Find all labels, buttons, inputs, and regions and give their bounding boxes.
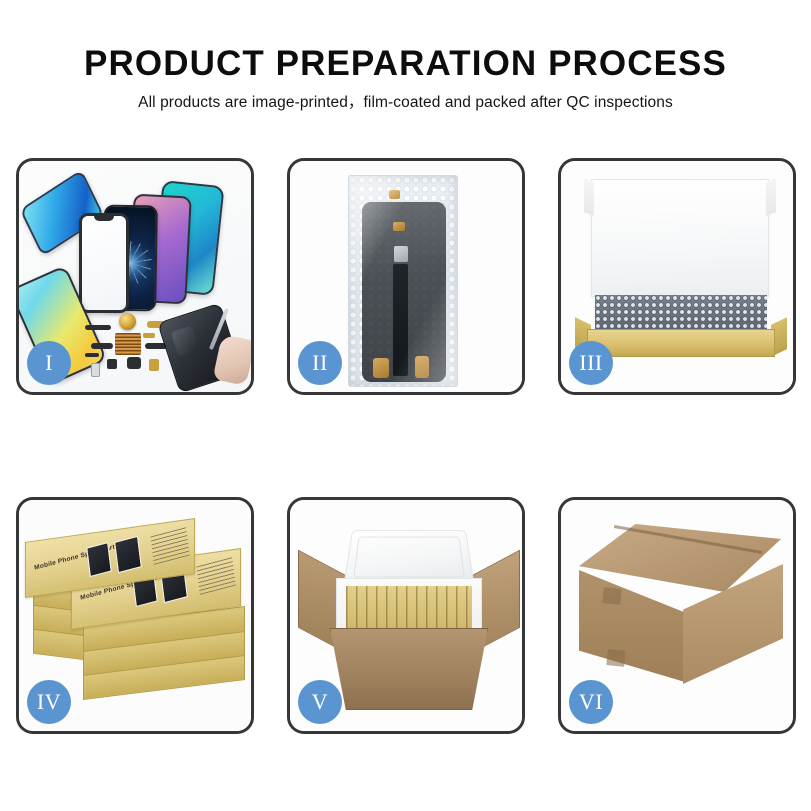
product-preparation-poster: PRODUCT PREPARATION PROCESS All products… (0, 0, 811, 811)
bubble-wrap-fill (595, 295, 767, 329)
bubble-wrap-bag (348, 175, 458, 387)
part-connector-grid (115, 333, 141, 355)
stack-box-top-window-b (114, 536, 142, 573)
process-step-panel-4: Mobile Phone Spare Parts Mobile Phone Sp… (16, 497, 254, 734)
part-chip-square (107, 359, 117, 369)
white-box-lid (591, 179, 769, 297)
step-badge-3: III (569, 341, 613, 385)
stack-box-front-text-block (196, 556, 235, 595)
flex-ic-chip (394, 246, 408, 262)
step-badge-6: VI (569, 680, 613, 724)
poster-header: PRODUCT PREPARATION PROCESS All products… (0, 42, 811, 114)
shipping-carton-tape-upper (602, 587, 622, 605)
process-step-panel-1: I (16, 158, 254, 395)
process-step-panel-3: III (558, 158, 796, 395)
shipping-carton-tape-lower (606, 649, 626, 667)
shipping-carton-left-face (579, 570, 685, 682)
process-step-grid: I II (16, 158, 795, 734)
part-camera-module (127, 357, 141, 369)
yellow-boxes-inside (346, 586, 472, 632)
stack-box-top-window-a (86, 542, 111, 577)
speaker-coin-part (119, 313, 136, 330)
process-step-panel-5: V (287, 497, 525, 734)
flex-gold-pad-right (415, 356, 429, 378)
kraft-box-front (587, 329, 775, 357)
flex-cable-strip (393, 264, 408, 376)
part-connector-bar (85, 325, 111, 330)
step-badge-1: I (27, 341, 71, 385)
process-step-panel-6: VI (558, 497, 796, 734)
step-badge-5: V (298, 680, 342, 724)
flex-gold-pad-left (373, 358, 389, 378)
page-subtitle: All products are image-printed，film-coat… (0, 92, 811, 114)
flex-gold-pad-upper (389, 190, 400, 199)
stack-box-top-text-block (150, 526, 189, 565)
step-badge-4: IV (27, 680, 71, 724)
page-title: PRODUCT PREPARATION PROCESS (0, 42, 811, 86)
part-flex-cable-left (91, 343, 113, 349)
part-battery-connector (149, 359, 159, 371)
part-gold-flex-b (143, 333, 155, 338)
step-badge-2: II (298, 341, 342, 385)
flex-gold-pad-top (393, 222, 405, 231)
process-step-panel-2: II (287, 158, 525, 395)
carton-body (330, 628, 488, 710)
part-volume-button (85, 353, 99, 357)
tempered-glass-panel (79, 213, 129, 313)
part-sim-tray (91, 363, 100, 377)
